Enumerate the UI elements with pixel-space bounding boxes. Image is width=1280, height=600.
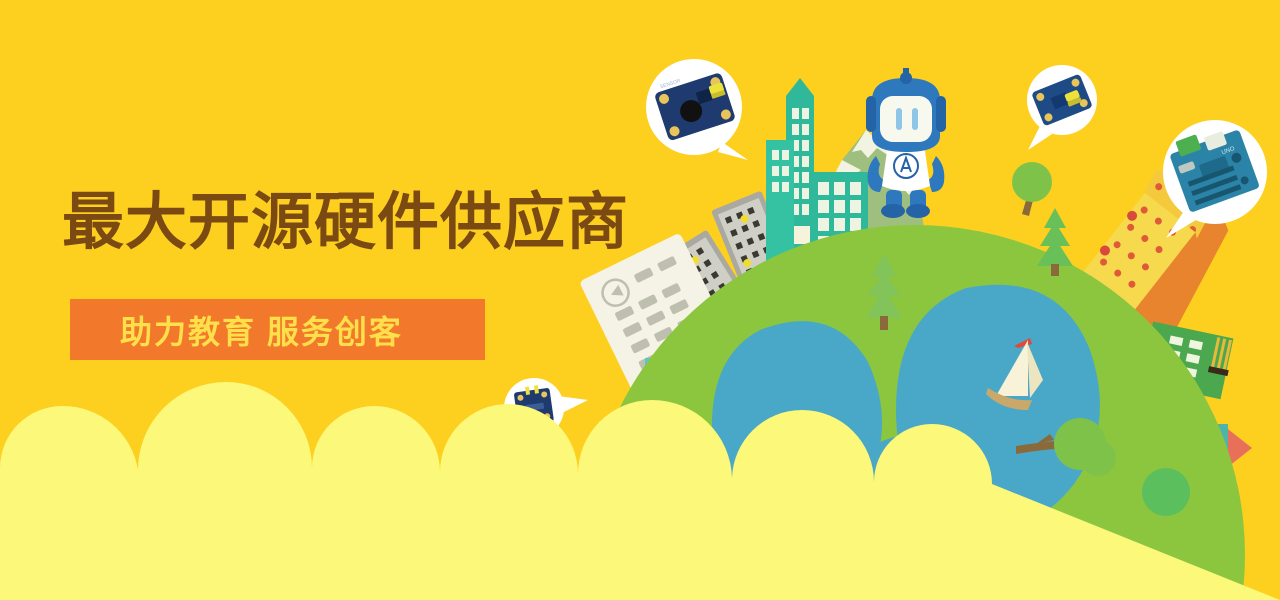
bottom-cloud-band [0,0,1280,600]
hero-banner: SENSOR [0,0,1280,600]
